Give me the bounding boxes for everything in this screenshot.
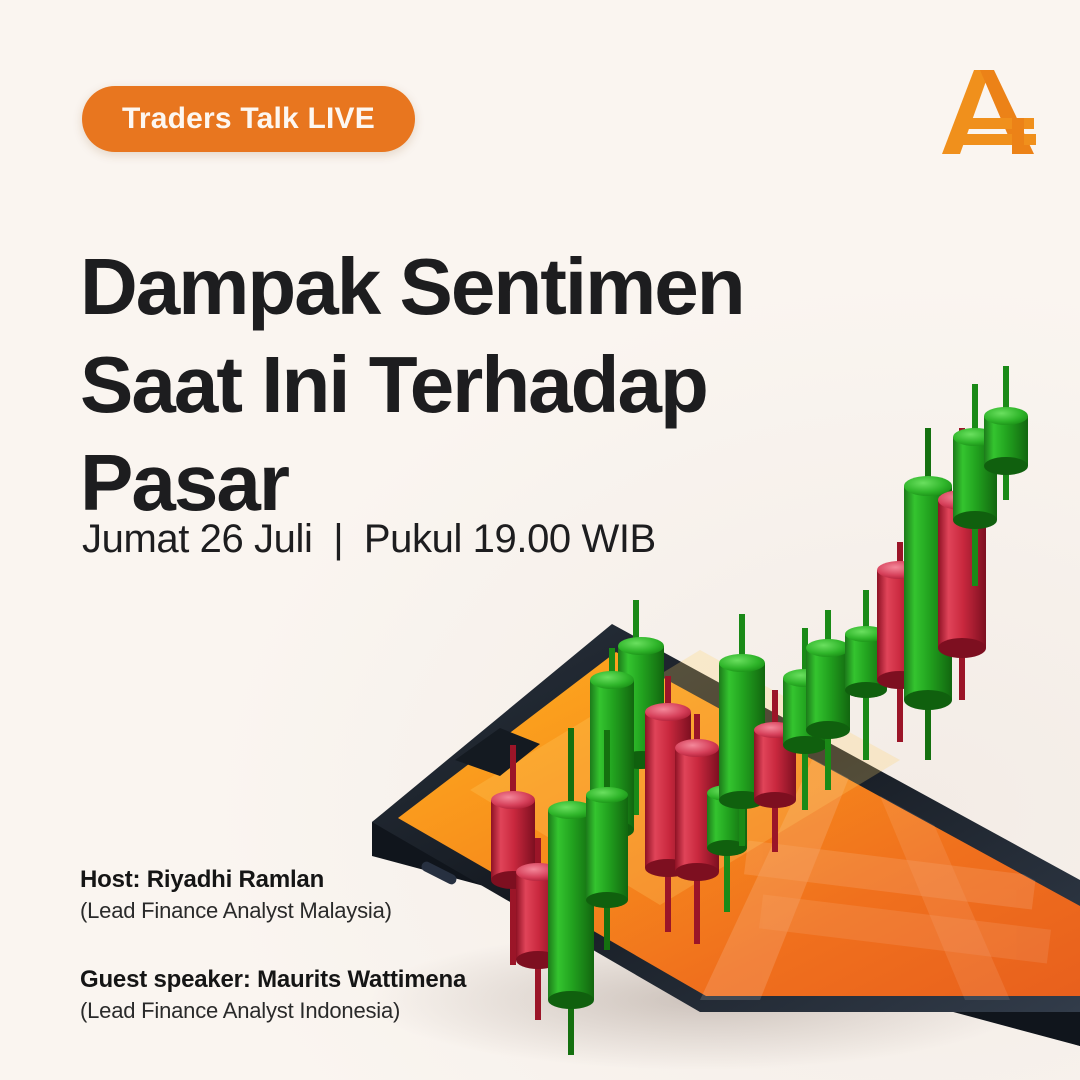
guest-name: Guest speaker: Maurits Wattimena xyxy=(80,966,466,994)
guest-credit: Guest speaker: Maurits Wattimena (Lead F… xyxy=(80,966,466,1024)
anc-a-logo-icon xyxy=(934,62,1042,162)
candle-bull xyxy=(719,614,765,846)
smartphone-3d-icon xyxy=(372,624,1080,1046)
candle-bear xyxy=(754,690,796,852)
schedule-separator: | xyxy=(333,517,343,562)
speaker-credits: Host: Riyadhi Ramlan (Lead Finance Analy… xyxy=(80,866,466,1024)
candle-bull xyxy=(953,384,997,586)
device-shadow xyxy=(370,930,1030,1070)
schedule-time: Pukul 19.00 WIB xyxy=(364,517,656,561)
live-event-poster: Traders Talk LIVE Dampak Sentimen Saat I… xyxy=(0,0,1080,1080)
candle-bear xyxy=(938,428,986,700)
candle-bull xyxy=(845,590,887,760)
candle-bull xyxy=(904,428,952,760)
candle-bear xyxy=(645,676,691,932)
schedule-date: Jumat 26 Juli xyxy=(82,517,312,561)
live-badge-label: Traders Talk LIVE xyxy=(122,102,375,136)
page-title-line-3: Pasar xyxy=(80,443,840,523)
schedule-line: Jumat 26 Juli | Pukul 19.00 WIB xyxy=(82,517,656,562)
candle-bull xyxy=(806,610,850,790)
host-role: (Lead Finance Analyst Malaysia) xyxy=(80,898,466,924)
candle-bear xyxy=(877,542,923,742)
candle-bull xyxy=(590,648,634,880)
host-name: Host: Riyadhi Ramlan xyxy=(80,866,466,894)
candle-bull xyxy=(984,366,1028,500)
candle-bear xyxy=(491,745,535,965)
candle-bear xyxy=(516,838,560,1020)
page-title-line-1: Dampak Sentimen xyxy=(80,247,840,327)
candle-bull xyxy=(586,730,628,950)
host-credit: Host: Riyadhi Ramlan (Lead Finance Analy… xyxy=(80,866,466,924)
candle-bull xyxy=(618,600,664,815)
anc-a-logo-watermark-icon xyxy=(700,700,1051,1000)
candle-bear xyxy=(675,714,719,944)
page-title-line-2: Saat Ini Terhadap xyxy=(80,345,840,425)
guest-role: (Lead Finance Analyst Indonesia) xyxy=(80,998,466,1024)
candle-bull xyxy=(707,760,747,912)
page-title: Dampak Sentimen Saat Ini Terhadap Pasar xyxy=(80,247,840,523)
live-badge[interactable]: Traders Talk LIVE xyxy=(82,86,415,152)
candle-bull xyxy=(548,728,594,1055)
candle-bull xyxy=(783,628,827,810)
